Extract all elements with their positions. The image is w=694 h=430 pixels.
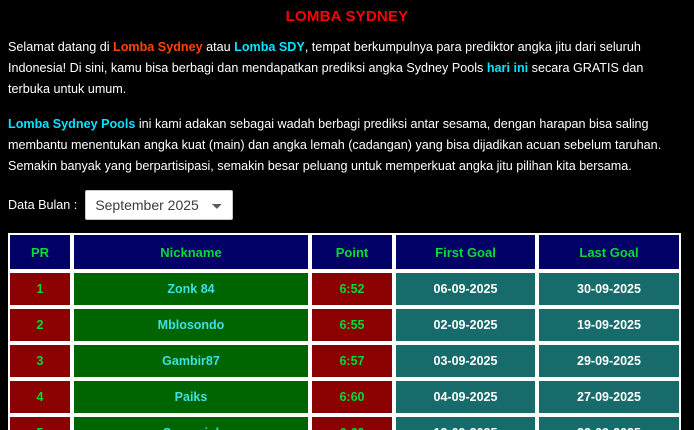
month-select[interactable]: September 2025: [85, 190, 233, 220]
highlight-cyan: Lomba Sydney Pools: [8, 117, 135, 131]
cell-first-goal: 03-09-2025: [394, 343, 537, 379]
column-header-first-goal: First Goal: [394, 233, 537, 271]
table-row: 5Samonjul6:6013-09-202522-09-2025: [8, 415, 681, 430]
highlight-orange: Lomba Sydney: [113, 40, 203, 54]
highlight-cyan: Lomba SDY: [234, 40, 305, 54]
cell-last-goal: 29-09-2025: [537, 343, 681, 379]
cell-point: 6:60: [310, 379, 394, 415]
text-segment: Selamat datang di: [8, 40, 113, 54]
column-header-last-goal: Last Goal: [537, 233, 681, 271]
cell-point: 6:52: [310, 271, 394, 307]
table-row: 2Mblosondo6:5502-09-202519-09-2025: [8, 307, 681, 343]
cell-point: 6:55: [310, 307, 394, 343]
table-body: 1Zonk 846:5206-09-202530-09-20252Mbloson…: [8, 271, 681, 430]
column-header-nickname: Nickname: [72, 233, 310, 271]
cell-pr: 5: [8, 415, 72, 430]
cell-last-goal: 27-09-2025: [537, 379, 681, 415]
column-header-pr: PR: [8, 233, 72, 271]
page-root: LOMBA SYDNEY Selamat datang di Lomba Syd…: [0, 7, 694, 430]
cell-pr: 3: [8, 343, 72, 379]
cell-nickname: Zonk 84: [72, 271, 310, 307]
cell-nickname: Gambir87: [72, 343, 310, 379]
cell-pr: 1: [8, 271, 72, 307]
intro-paragraph-1: Selamat datang di Lomba Sydney atau Lomb…: [8, 37, 686, 100]
month-filter-row: Data Bulan : September 2025: [8, 190, 686, 220]
cell-first-goal: 06-09-2025: [394, 271, 537, 307]
table-header: PR Nickname Point First Goal Last Goal: [8, 233, 681, 271]
cell-nickname: Mblosondo: [72, 307, 310, 343]
cell-first-goal: 04-09-2025: [394, 379, 537, 415]
table-row: 3Gambir876:5703-09-202529-09-2025: [8, 343, 681, 379]
cell-last-goal: 19-09-2025: [537, 307, 681, 343]
intro-paragraph-2: Lomba Sydney Pools ini kami adakan sebag…: [8, 114, 686, 177]
column-header-point: Point: [310, 233, 394, 271]
cell-pr: 2: [8, 307, 72, 343]
table-row: 4Paiks6:6004-09-202527-09-2025: [8, 379, 681, 415]
cell-point: 6:57: [310, 343, 394, 379]
cell-point: 6:60: [310, 415, 394, 430]
leaderboard-table: PR Nickname Point First Goal Last Goal 1…: [8, 233, 681, 430]
cell-nickname: Paiks: [72, 379, 310, 415]
cell-nickname: Samonjul: [72, 415, 310, 430]
page-title: LOMBA SYDNEY: [8, 7, 686, 26]
cell-first-goal: 02-09-2025: [394, 307, 537, 343]
text-segment: atau: [203, 40, 235, 54]
cell-pr: 4: [8, 379, 72, 415]
table-row: 1Zonk 846:5206-09-202530-09-2025: [8, 271, 681, 307]
month-filter-label: Data Bulan :: [8, 198, 77, 212]
table-header-row: PR Nickname Point First Goal Last Goal: [8, 233, 681, 271]
cell-last-goal: 30-09-2025: [537, 271, 681, 307]
cell-first-goal: 13-09-2025: [394, 415, 537, 430]
highlight-cyan: hari ini: [487, 61, 528, 75]
cell-last-goal: 22-09-2025: [537, 415, 681, 430]
